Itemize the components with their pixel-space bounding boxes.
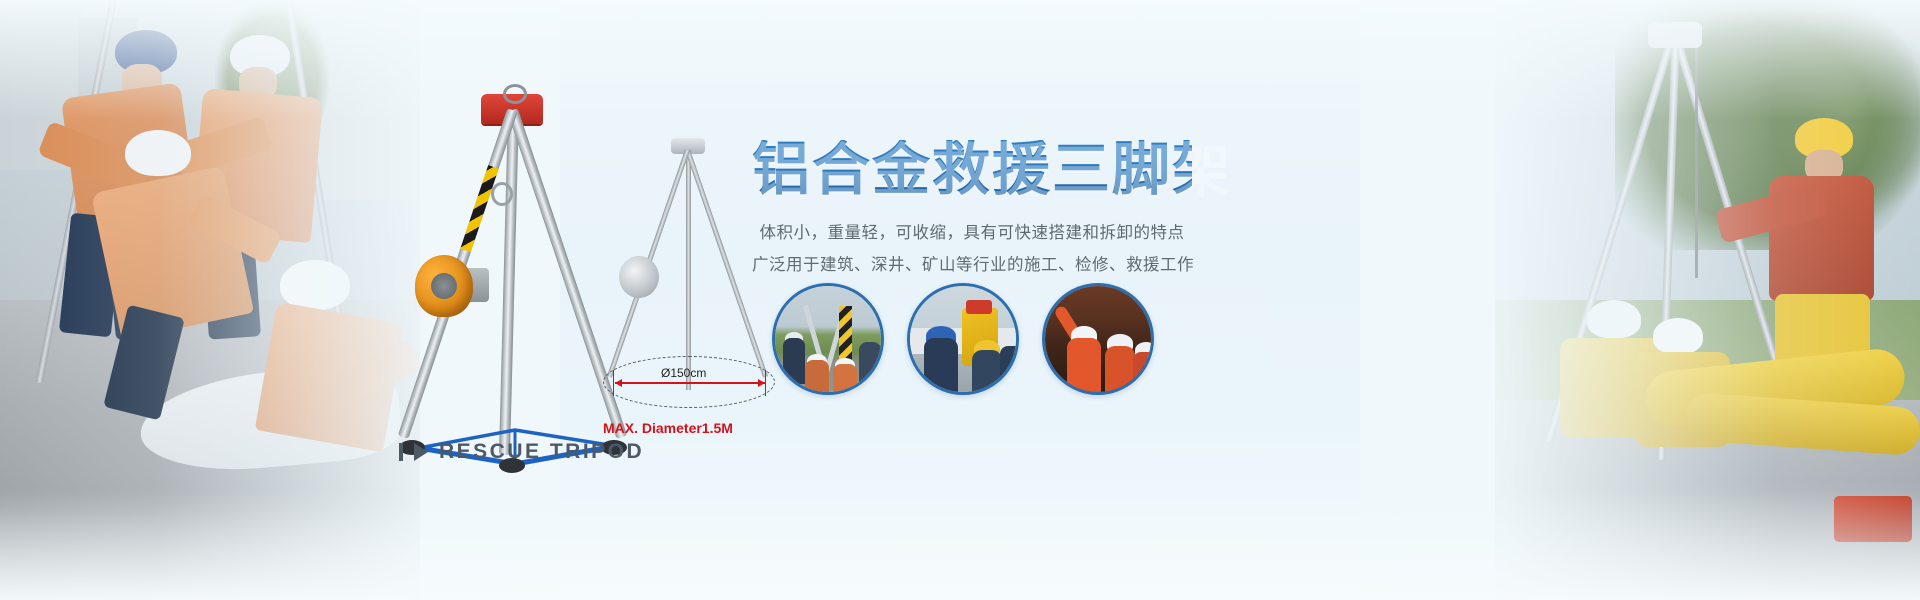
diameter-label: Ø150cm <box>661 366 706 380</box>
product-banner: Ø150cm MAX. Diameter1.5M RESCUE TRIPOD 铝… <box>0 0 1920 600</box>
headline-block: 铝合金救援三脚架 体积小，重量轻，可收缩，具有可快速搭建和拆卸的特点 广泛用于建… <box>752 140 1192 281</box>
thumbnail-site-operation[interactable] <box>907 283 1019 395</box>
thumb-rescuer-1 <box>1067 338 1101 395</box>
top-fade <box>0 0 1920 120</box>
thumb-worker-2 <box>972 350 1002 395</box>
thumb-person-1 <box>783 338 805 384</box>
dimension-tick-right <box>765 370 766 396</box>
product-caption-label: RESCUE TRIPOD <box>439 440 644 464</box>
hazard-stripe <box>460 165 498 252</box>
product-tripod-color <box>395 90 630 460</box>
pulley-icon <box>491 182 513 206</box>
thumb-person-2 <box>805 360 829 395</box>
thumbnail-field-rescue[interactable] <box>772 283 884 395</box>
thumb-machine-top <box>966 300 992 314</box>
line-tripod-leg-center <box>686 150 691 390</box>
subtitle-line-2: 广泛用于建筑、深井、矿山等行业的施工、检修、救援工作 <box>752 249 1192 281</box>
thumbnail-row <box>772 283 1154 395</box>
thumbnail-confined-space[interactable] <box>1042 283 1154 395</box>
bottom-fade <box>0 490 1920 600</box>
thumb-worker-1 <box>924 338 958 395</box>
play-triangle-icon <box>414 443 428 461</box>
thumb-worker-3 <box>1000 346 1019 395</box>
dimension-arrow <box>615 382 765 384</box>
thumb-person-3 <box>833 364 857 395</box>
page-title: 铝合金救援三脚架 <box>752 140 1192 201</box>
product-tripod-linedrawing: Ø150cm MAX. Diameter1.5M <box>605 138 770 418</box>
product-caption: RESCUE TRIPOD <box>405 440 644 464</box>
caption-bar-icon <box>399 443 403 461</box>
thumb-rescuer-3 <box>1133 352 1154 395</box>
winch-assembly <box>415 255 473 317</box>
max-diameter-label: MAX. Diameter1.5M <box>603 420 733 436</box>
thumb-rescuer-2 <box>1105 346 1135 395</box>
subtitle-line-1: 体积小，重量轻，可收缩，具有可快速搭建和拆卸的特点 <box>752 217 1192 249</box>
line-winch <box>619 256 659 298</box>
thumb-person-4 <box>859 342 881 394</box>
